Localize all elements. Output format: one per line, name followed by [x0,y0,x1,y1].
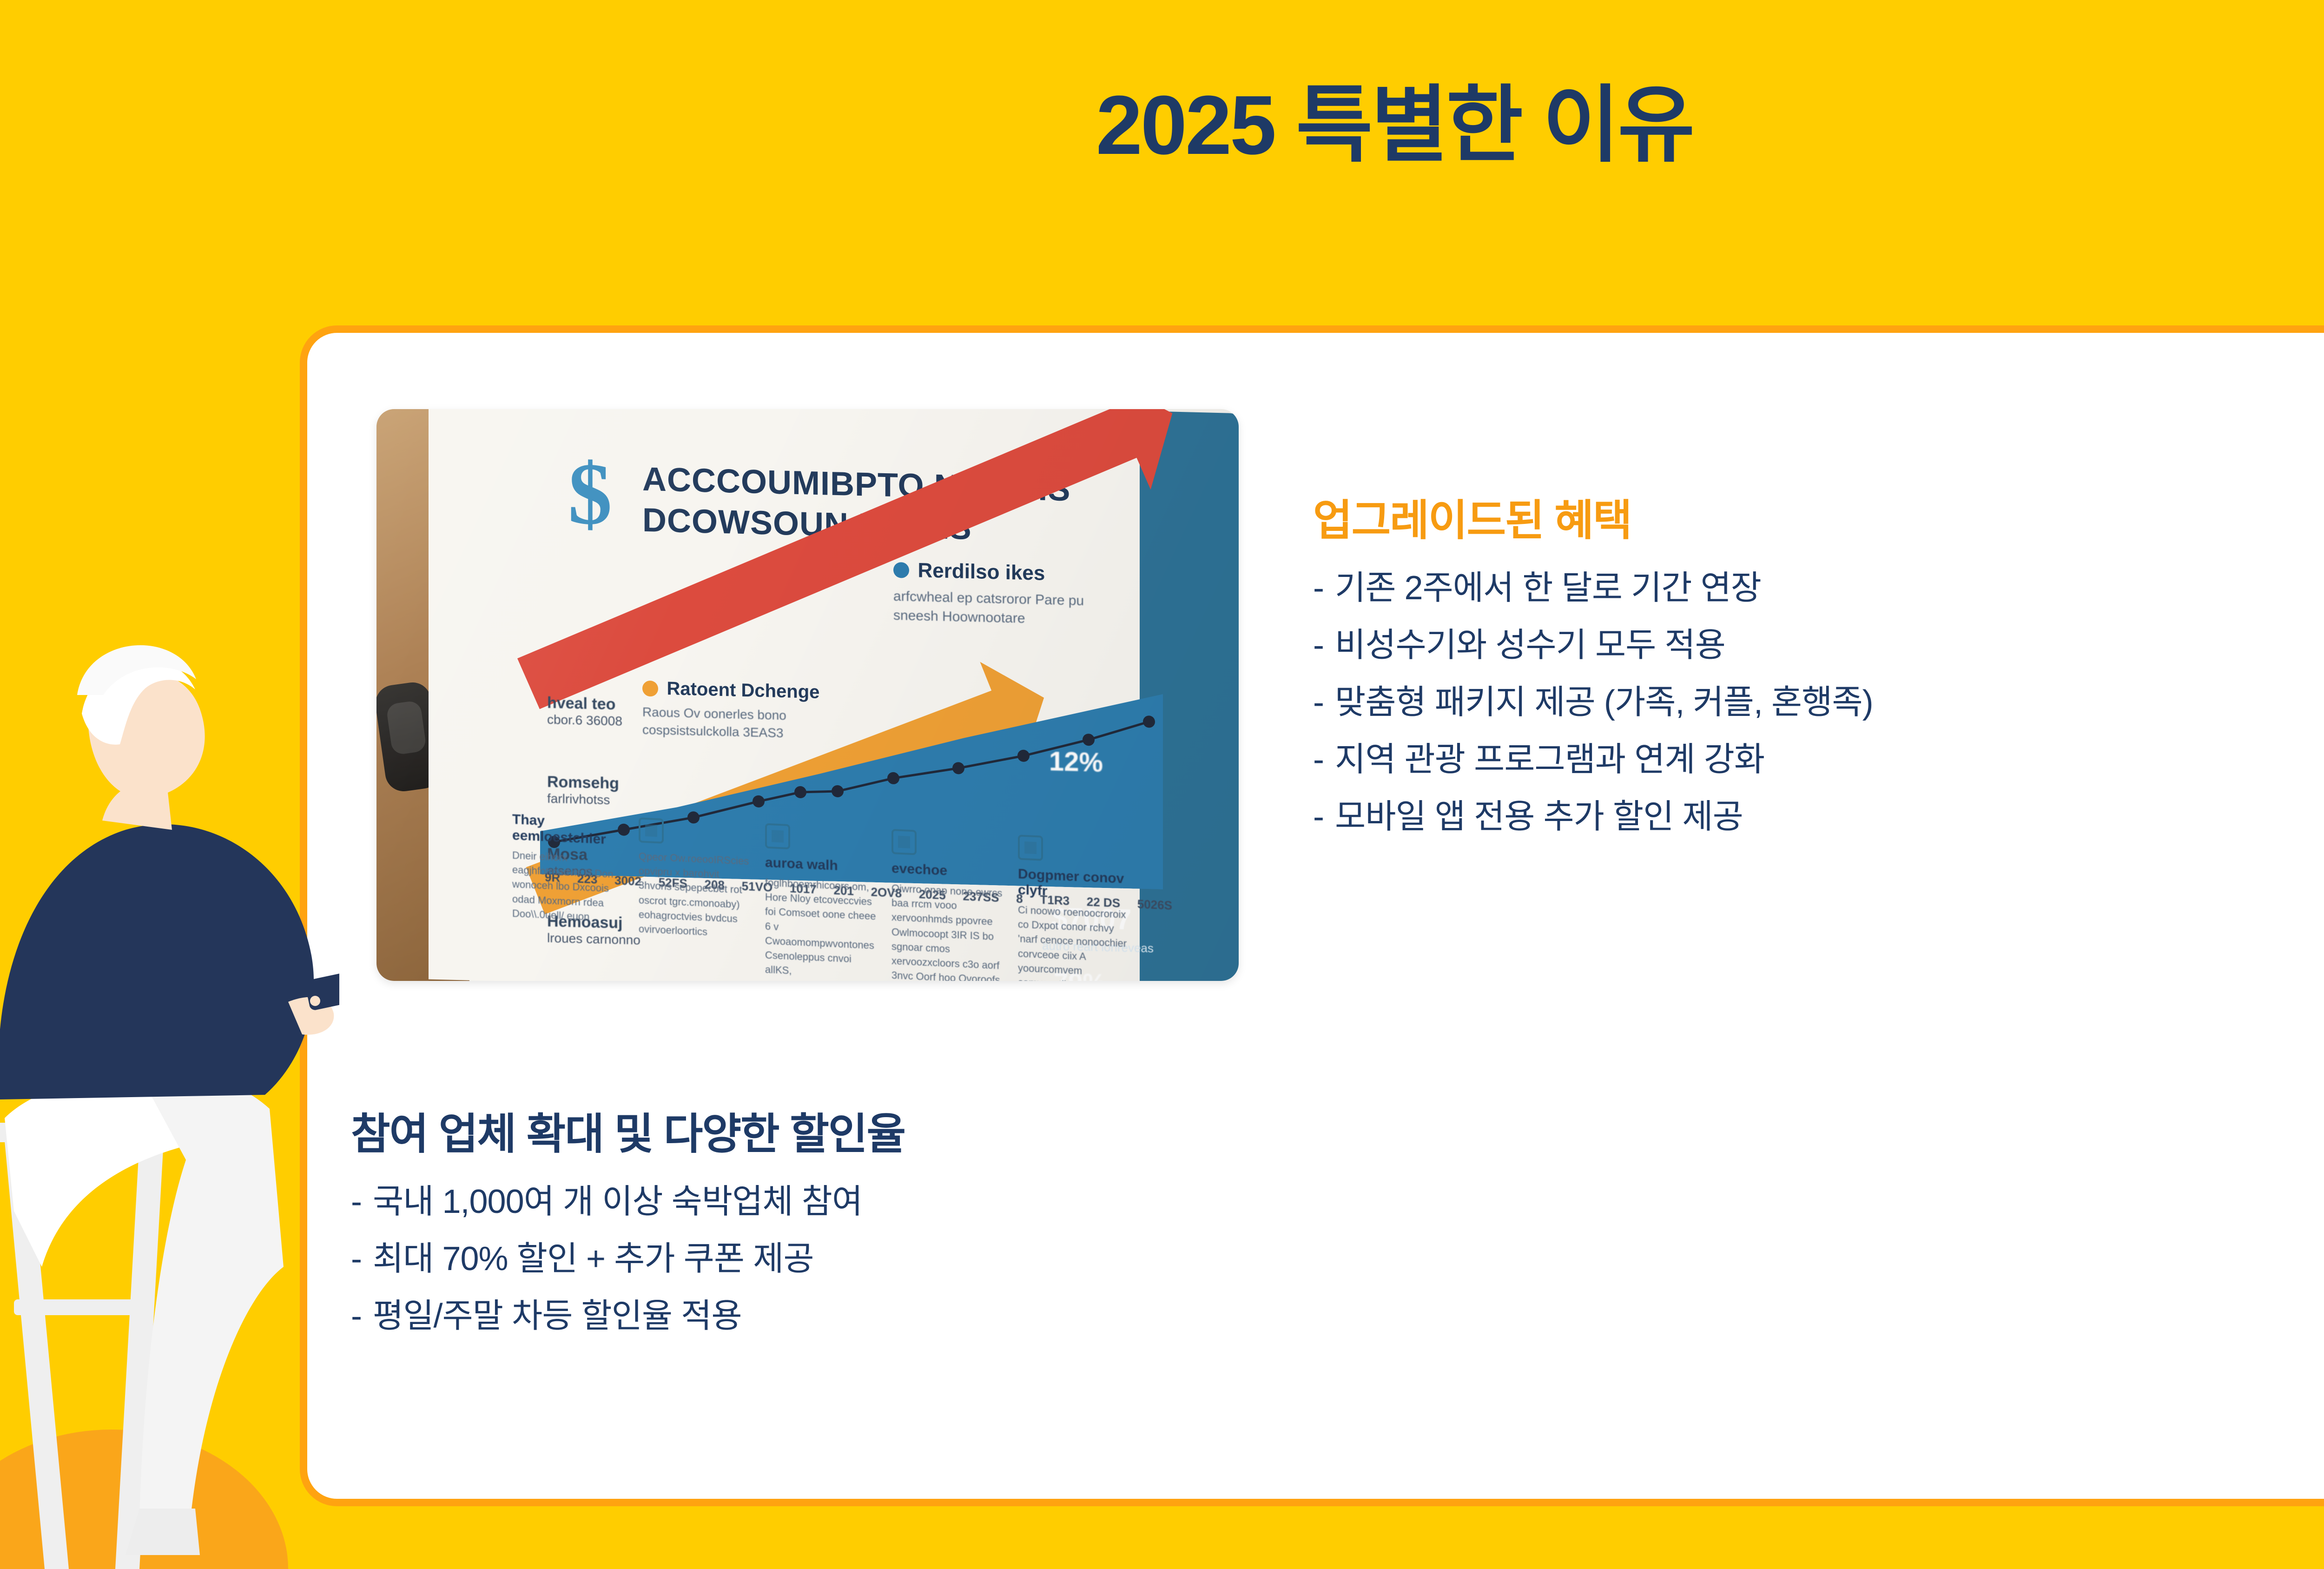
partners-section: 참여 업체 확대 및 다양한 할인율 - 국내 1,000여 개 이상 숙박업체… [351,1111,1466,1354]
footer-column: evechoe Oiwrro onap none owrcs baa rrcm … [891,829,1004,981]
dollar-logo-icon: $ [568,458,619,530]
benefits-bullet: - 비성수기와 성수기 모두 적용 [1313,626,2324,665]
bullet-dash: - [1313,626,1324,665]
person-illustration-left [0,569,339,1569]
bullet-dash: - [1313,569,1324,608]
partners-bullet: - 평일/주말 차등 할인율 적용 [351,1297,1466,1336]
benefits-bullet: - 모바일 앱 전용 추가 할인 제공 [1313,797,2324,837]
clock-icon [765,823,790,849]
benefits-bullet: - 맞춤형 패키지 제공 (가족, 커플, 혼행족) [1313,683,2324,722]
y-label-0: hveal teo cbor.6 36008 [547,694,622,729]
bullet-dash: - [1313,797,1324,837]
benefits-section: 업그레이드된 혜택 - 기존 2주에서 한 달로 기간 연장 - 비성수기와 성… [1313,497,2324,854]
bullet-text: 평일/주말 차등 할인율 적용 [373,1297,1466,1336]
slide-root: 2025 특별한 이유 $ ACCCOUMIBPTO NATIOIS DCOWS… [0,0,2324,1569]
card-icon [891,829,917,855]
y-label-1: Romsehg farlrivhotss [547,773,619,808]
bullet-dash: - [351,1297,362,1336]
benefits-heading: 업그레이드된 혜택 [1313,497,2324,544]
bullet-dash: - [1313,683,1324,722]
callout-dot-icon [893,562,909,578]
callout-dot-icon [642,680,658,696]
footer-column: Dogpmer conov clyfr Ci noowo roenoocroro… [1018,834,1130,981]
footer-column: Qpeor Ow.roeooIRScies opvipru x barohvit… [639,817,751,977]
bullet-text: 최대 70% 할인 + 추가 쿠폰 제공 [373,1239,1466,1279]
infographic-footer: Thay eemloestchier Dneir eihorx eagjhfot… [512,812,1130,981]
infographic-image: $ ACCCOUMIBPTO NATIOIS DCOWSOUN RATES [376,409,1239,981]
bullet-text: 맞춤형 패키지 제공 (가족, 커플, 혼행족) [1335,683,2324,722]
document-icon [639,817,664,843]
footer-column: Thay eemloestchier Dneir eihorx eagjhfot… [512,812,625,972]
percent-top-label: 12% [1049,746,1103,778]
infographic-paper: $ ACCCOUMIBPTO NATIOIS DCOWSOUN RATES [429,409,1239,981]
footer-column: auroa walh foglhboemrhicoors om, Hore Nl… [765,823,878,981]
infographic-callout-1: Rerdilso ikes arfcwheal ep catsroror Par… [893,558,1112,630]
bullet-text: 국내 1,000여 개 이상 숙박업체 참여 [373,1182,1466,1222]
partners-bullet: - 최대 70% 할인 + 추가 쿠폰 제공 [351,1239,1466,1279]
bullet-dash: - [351,1239,362,1279]
benefits-bullet: - 기존 2주에서 한 달로 기간 연장 [1313,569,2324,608]
bullet-text: 모바일 앱 전용 추가 할인 제공 [1335,797,2324,837]
bullet-dash: - [1313,740,1324,780]
partners-bullet: - 국내 1,000여 개 이상 숙박업체 참여 [351,1182,1466,1222]
page-title: 2025 특별한 이유 [0,84,2324,167]
benefits-bullet: - 지역 관광 프로그램과 연계 강화 [1313,740,2324,780]
bullet-text: 지역 관광 프로그램과 연계 강화 [1335,740,2324,780]
x-tick: 5026S [1137,897,1172,913]
chart-icon [1018,834,1043,861]
partners-heading: 참여 업체 확대 및 다양한 할인율 [351,1111,1466,1158]
bullet-text: 기존 2주에서 한 달로 기간 연장 [1335,569,2324,608]
bullet-dash: - [351,1182,362,1222]
bullet-text: 비성수기와 성수기 모두 적용 [1335,626,2324,665]
infographic-callout-2: Ratoent Dchenge Raous Ov oonerles bono c… [642,678,842,743]
